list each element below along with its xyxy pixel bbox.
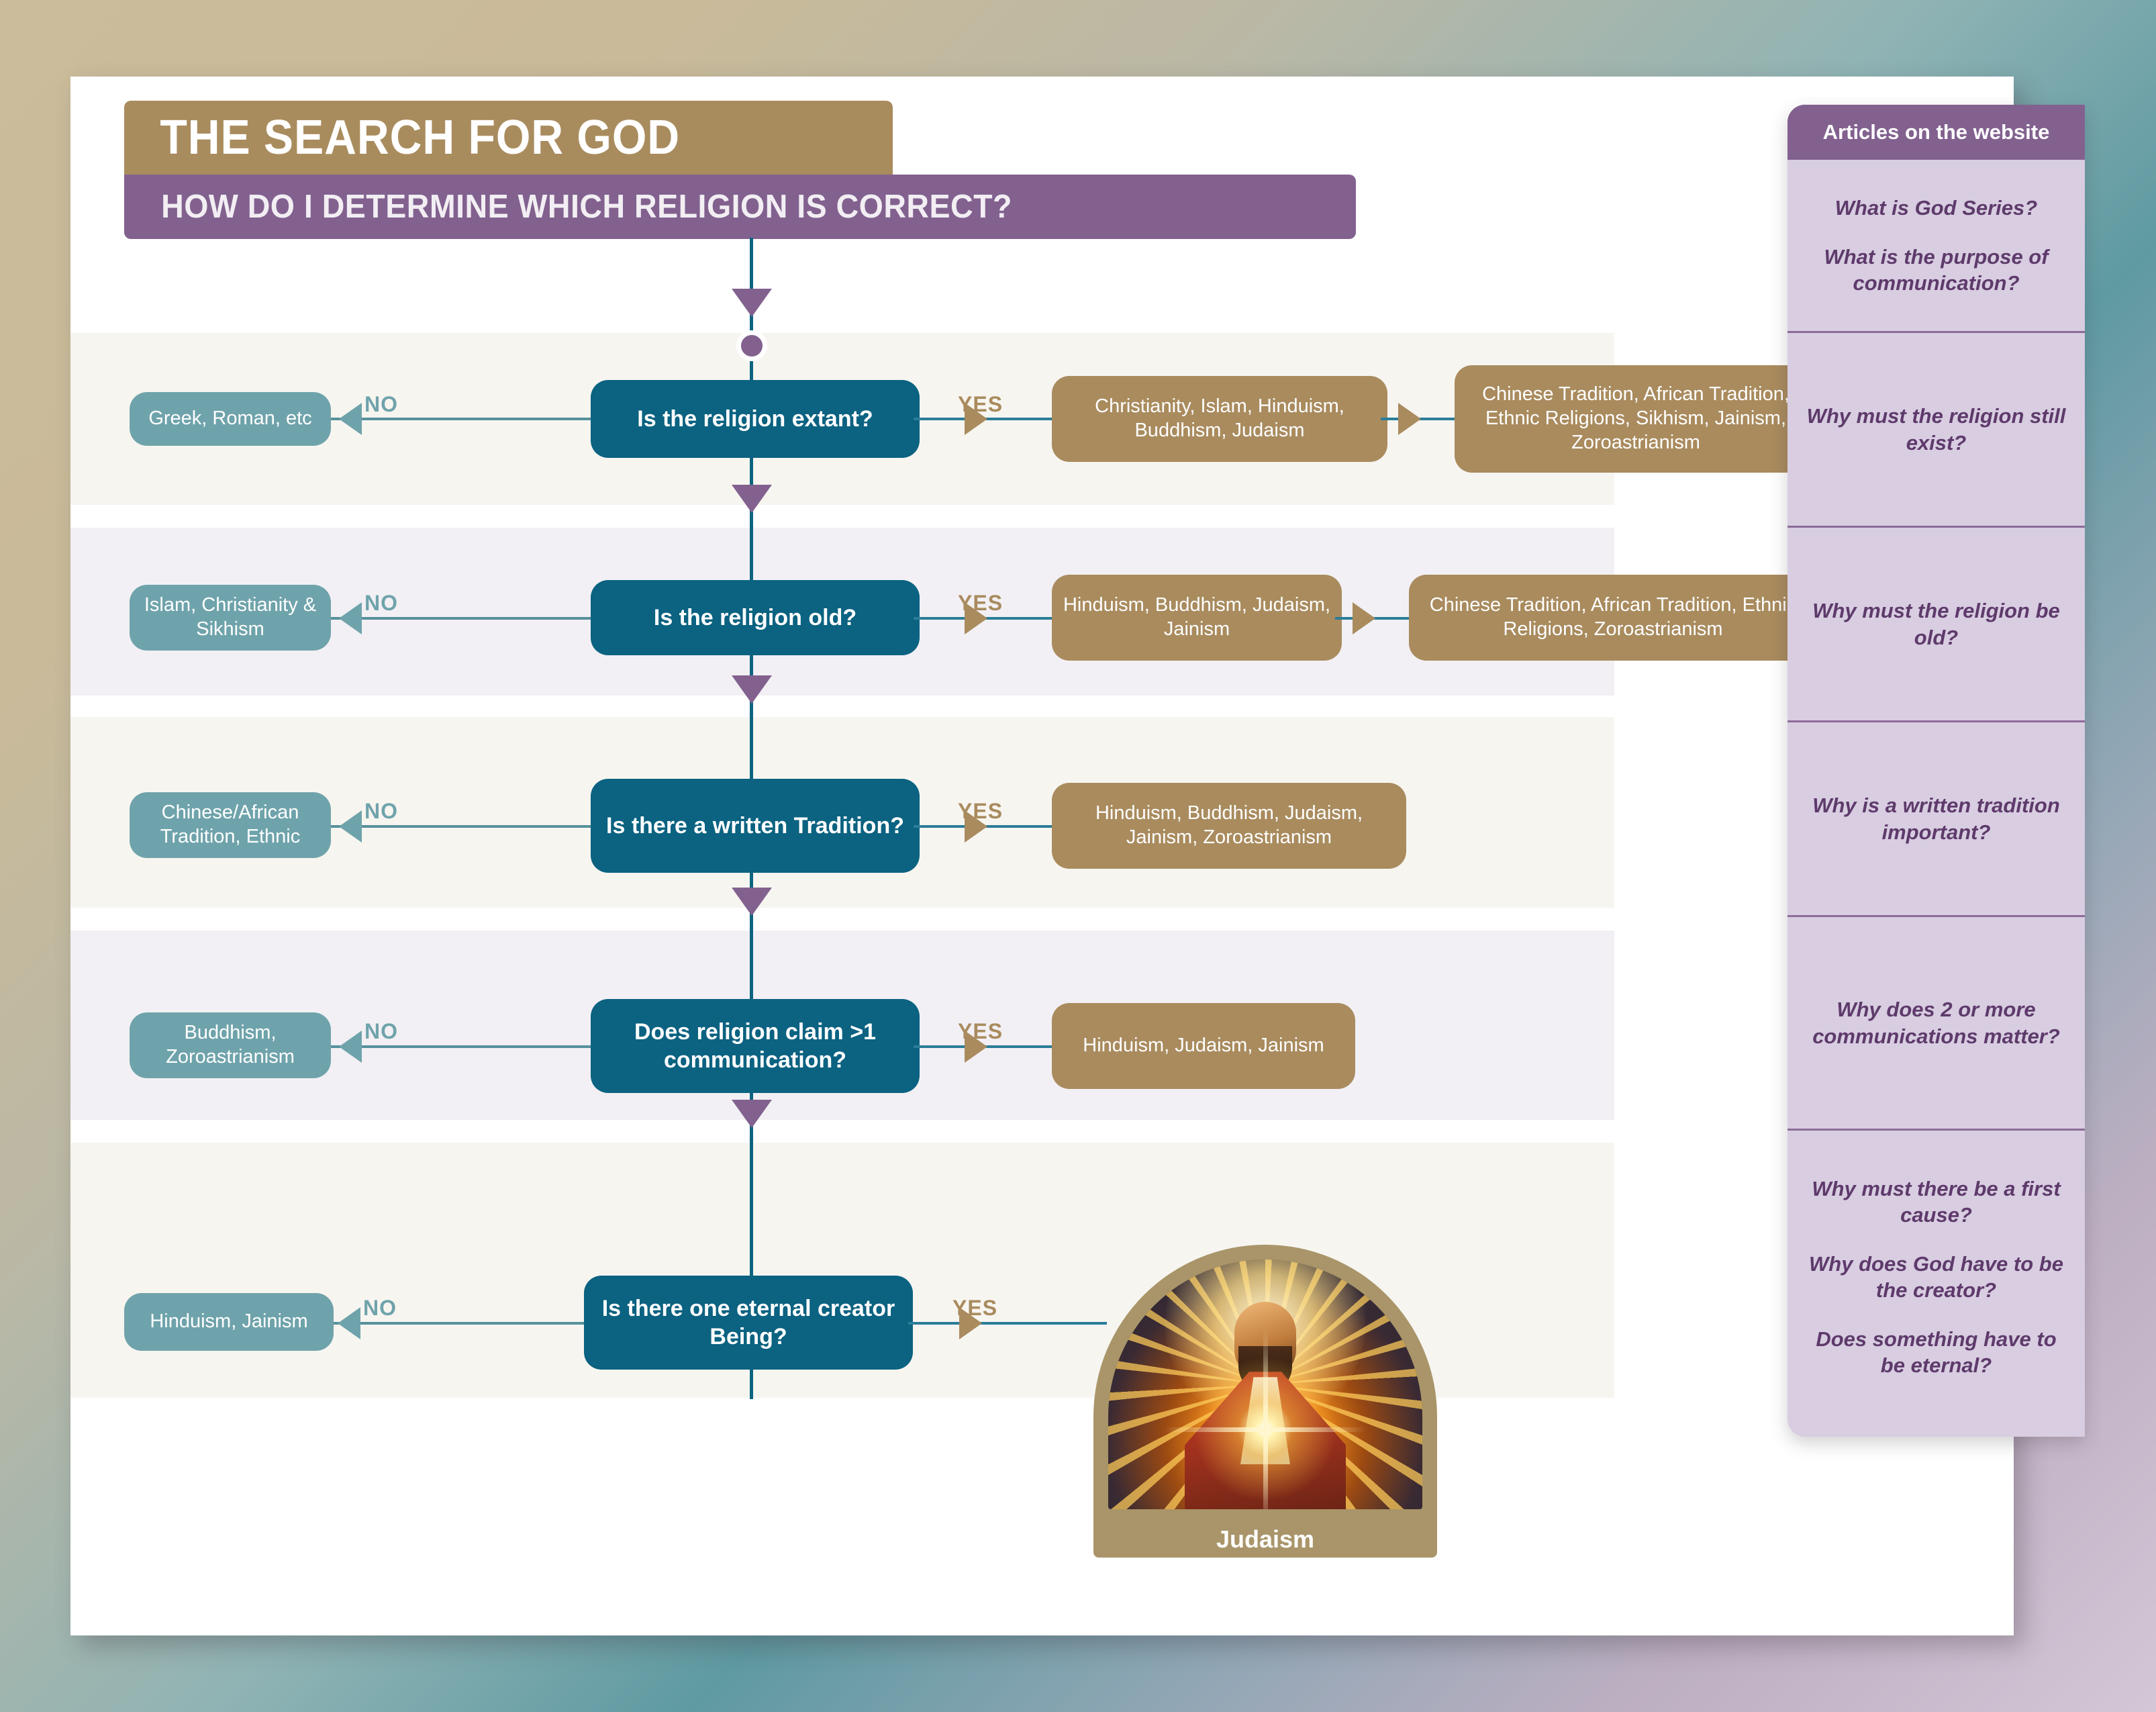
sidebar-cell-2[interactable]: Why must the religion still exist? — [1787, 333, 2085, 528]
row-4-question[interactable]: Does religion claim >1 communication? — [591, 999, 920, 1093]
page-subtitle: HOW DO I DETERMINE WHICH RELIGION IS COR… — [124, 175, 1356, 239]
row-4-no-outcome[interactable]: Buddhism, Zoroastrianism — [130, 1012, 331, 1078]
page-subtitle-text: HOW DO I DETERMINE WHICH RELIGION IS COR… — [124, 188, 1012, 226]
row-3-question[interactable]: Is there a written Tradition? — [591, 779, 920, 873]
row-2-yes-line — [914, 617, 1068, 620]
sidebar-header: Articles on the website — [1787, 105, 2085, 160]
sidebar-item-label: Why does God have to be the creator? — [1805, 1251, 2067, 1303]
spine-arrow-icon-5 — [732, 1100, 772, 1128]
sidebar-item-label: Why is a written tradition important? — [1805, 792, 2067, 845]
row-2-chain-line — [1335, 617, 1416, 620]
row-1-yes-label: YES — [958, 392, 1003, 417]
row-4-no-arrow-icon — [339, 1031, 362, 1063]
sidebar-cell-5[interactable]: Why does 2 or more communications matter… — [1787, 917, 2085, 1131]
sidebar-item-label: What is the purpose of communication? — [1805, 244, 2067, 296]
sidebar-item-label: Does something have to be eternal? — [1805, 1326, 2067, 1378]
row-2-no-outcome[interactable]: Islam, Christianity & Sikhism — [130, 585, 331, 651]
row-5-no-outcome[interactable]: Hinduism, Jainism — [124, 1293, 334, 1351]
spine-arrow-icon-1 — [732, 289, 772, 317]
row-3-no-label: NO — [364, 799, 398, 824]
row-2-no-arrow-icon — [339, 602, 362, 634]
sidebar-cell-1[interactable]: What is God Series? What is the purpose … — [1787, 160, 2085, 333]
row-5-yes-label: YES — [952, 1296, 997, 1321]
row-1-yes-outcome-2[interactable]: Chinese Tradition, African Tradition, Et… — [1455, 365, 1817, 473]
sidebar-item-label: Why must the religion still exist? — [1805, 403, 2067, 455]
row-1-chain-arrow-icon — [1398, 403, 1421, 435]
row-2-yes-outcome-1[interactable]: Hinduism, Buddhism, Judaism, Jainism — [1052, 575, 1342, 661]
final-answer-panel[interactable]: Judaism — [1093, 1245, 1437, 1558]
row-2-no-label: NO — [364, 591, 398, 616]
sidebar-item-label: What is God Series? — [1835, 195, 2037, 221]
spine-arrow-icon-2 — [732, 485, 772, 513]
row-2-yes-label: YES — [958, 591, 1003, 616]
row-2-yes-outcome-2[interactable]: Chinese Tradition, African Tradition, Et… — [1409, 575, 1817, 661]
row-1-question[interactable]: Is the religion extant? — [591, 380, 920, 458]
row-5-yes-line — [908, 1322, 1107, 1325]
row-5-no-label: NO — [363, 1296, 397, 1321]
row-1-no-label: NO — [364, 392, 398, 417]
row-4-yes-label: YES — [958, 1019, 1003, 1044]
articles-sidebar: Articles on the website What is God Seri… — [1787, 105, 2085, 1437]
row-1-yes-outcome-1[interactable]: Christianity, Islam, Hinduism, Buddhism,… — [1052, 376, 1387, 462]
sidebar-item-label: Why must there be a first cause? — [1805, 1176, 2067, 1228]
row-1-yes-line — [914, 418, 1068, 420]
row-5-no-arrow-icon — [338, 1307, 360, 1339]
spine-arrow-icon-3 — [732, 675, 772, 704]
row-3-yes-label: YES — [958, 799, 1003, 824]
spine-arrow-icon-4 — [732, 888, 772, 916]
final-answer-caption: Judaism — [1093, 1525, 1437, 1554]
radiant-figure-icon — [1108, 1259, 1422, 1509]
page-title-text: THE SEARCH FOR GOD — [124, 110, 680, 165]
row-4-yes-outcome-1[interactable]: Hinduism, Judaism, Jainism — [1052, 1003, 1355, 1089]
row-2-question[interactable]: Is the religion old? — [591, 580, 920, 655]
row-1-no-outcome[interactable]: Greek, Roman, etc — [130, 392, 331, 446]
row-1-no-arrow-icon — [339, 403, 362, 435]
row-2-chain-arrow-icon — [1353, 602, 1375, 634]
sidebar-item-label: Why does 2 or more communications matter… — [1805, 996, 2067, 1049]
sidebar-cell-3[interactable]: Why must the religion be old? — [1787, 528, 2085, 722]
row-3-no-arrow-icon — [339, 810, 362, 843]
sidebar-item-label: Why must the religion be old? — [1805, 598, 2067, 650]
row-3-yes-outcome-1[interactable]: Hinduism, Buddhism, Judaism, Jainism, Zo… — [1052, 783, 1406, 869]
starburst-light-icon — [1178, 1342, 1353, 1509]
page-title: THE SEARCH FOR GOD — [124, 101, 893, 175]
row-1-chain-line — [1381, 418, 1461, 420]
flow-start-dot-icon — [736, 330, 767, 361]
row-3-no-outcome[interactable]: Chinese/African Tradition, Ethnic — [130, 792, 331, 858]
sidebar-cell-6[interactable]: Why must there be a first cause? Why doe… — [1787, 1131, 2085, 1423]
infographic-card: THE SEARCH FOR GOD HOW DO I DETERMINE WH… — [70, 77, 2014, 1635]
row-4-no-label: NO — [364, 1019, 398, 1044]
row-5-question[interactable]: Is there one eternal creator Being? — [584, 1276, 913, 1370]
sidebar-cell-4[interactable]: Why is a written tradition important? — [1787, 722, 2085, 917]
